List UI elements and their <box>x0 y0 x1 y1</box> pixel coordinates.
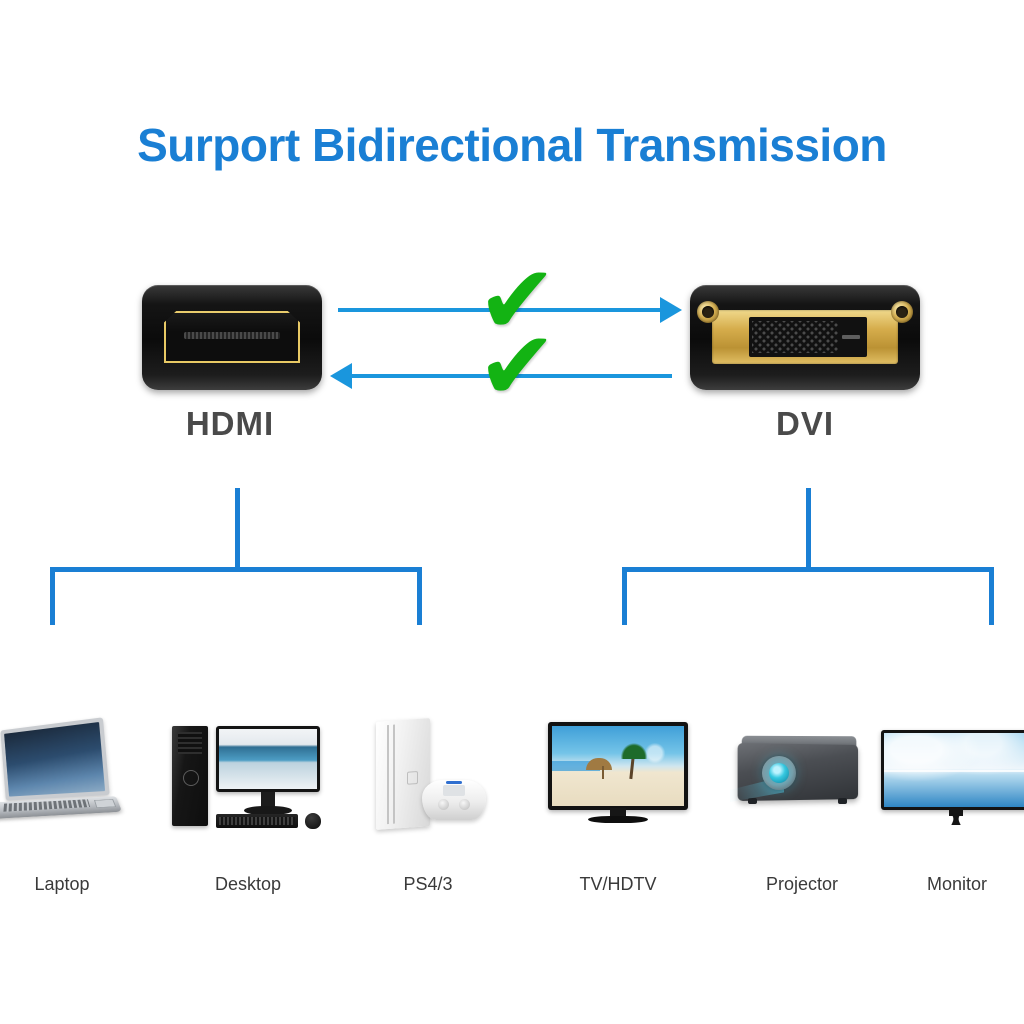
hdmi-label: HDMI <box>130 405 330 443</box>
hdmi-pin-strip <box>184 332 280 339</box>
desktop-tower-vents <box>178 732 202 754</box>
arrow-right-head-icon <box>660 297 682 323</box>
projector-foot-right <box>838 798 847 804</box>
device-caption-ps4: PS4/3 <box>348 874 508 895</box>
device-monitor: Monitor <box>877 710 1024 840</box>
laptop-trackpad <box>94 799 116 808</box>
monitor-screen-horizon <box>884 770 1024 772</box>
desktop-mouse <box>305 813 321 829</box>
tv-stand-base <box>588 816 648 823</box>
ps4-lightbar <box>446 781 462 784</box>
desktop-computer-icon <box>168 710 328 840</box>
desktop-screen <box>219 729 317 789</box>
ps4-stick-right <box>459 799 470 810</box>
dvi-screw-left-icon <box>697 301 719 323</box>
device-caption-desktop: Desktop <box>168 874 328 895</box>
monitor-bezel <box>881 730 1024 810</box>
green-check-icon-bottom: ✔ <box>477 318 557 414</box>
dvi-tree-stem <box>806 488 811 572</box>
game-console-icon <box>348 710 508 840</box>
desktop-keyboard <box>216 814 298 828</box>
page-title: Surport Bidirectional Transmission <box>0 118 1024 172</box>
dvi-tree-bar <box>622 567 994 572</box>
device-projector: Projector <box>722 710 882 840</box>
tv-screen-palm-leaves <box>617 739 651 759</box>
monitor-stand-legs <box>921 813 991 825</box>
tv-screen-umbrella-pole <box>602 766 604 779</box>
projector-icon <box>722 710 882 840</box>
television-icon <box>538 710 698 840</box>
dvi-tree-drop-left <box>622 567 627 625</box>
dvi-blade-slot <box>842 335 860 339</box>
hdmi-tree-drop-left <box>50 567 55 625</box>
device-desktop: Desktop <box>168 710 328 840</box>
projector-lens <box>769 763 789 783</box>
tv-screen-umbrella <box>586 758 612 770</box>
dvi-port-icon <box>712 310 898 364</box>
laptop-lid <box>0 717 109 800</box>
device-row: Laptop Desktop <box>0 710 1024 910</box>
device-caption-laptop: Laptop <box>0 874 142 895</box>
dvi-pin-grid <box>752 321 838 353</box>
ps4-console-body <box>376 718 430 830</box>
ps4-touchpad <box>443 785 465 796</box>
ps4-controller <box>422 780 486 820</box>
device-caption-projector: Projector <box>722 874 882 895</box>
dvi-tree-drop-right <box>989 567 994 625</box>
laptop-keyboard <box>3 799 90 811</box>
desktop-tower <box>172 726 208 826</box>
hdmi-tree-drop-right <box>417 567 422 625</box>
arrow-left-head-icon <box>330 363 352 389</box>
dvi-pin-block <box>749 317 867 357</box>
laptop-display <box>4 722 105 797</box>
ps4-stick-left <box>438 799 449 810</box>
tv-bezel <box>548 722 688 810</box>
ps4-vent-slit-b <box>393 725 395 824</box>
monitor-icon <box>877 710 1024 840</box>
device-caption-monitor: Monitor <box>877 874 1024 895</box>
laptop-icon <box>0 710 142 840</box>
desktop-brand-logo <box>183 770 199 786</box>
desktop-monitor <box>216 726 320 792</box>
infographic-page: Surport Bidirectional Transmission HDMI … <box>0 0 1024 1024</box>
hdmi-tree-stem <box>235 488 240 572</box>
ps4-vent-slit-a <box>387 725 389 824</box>
device-laptop: Laptop <box>0 710 142 840</box>
projector-foot-left <box>748 798 757 804</box>
dvi-screw-right-icon <box>891 301 913 323</box>
device-tv: TV/HDTV <box>538 710 698 840</box>
device-caption-tv: TV/HDTV <box>538 874 698 895</box>
dvi-label: DVI <box>705 405 905 443</box>
dvi-connector-image <box>690 285 920 390</box>
ps4-logo <box>407 771 418 785</box>
hdmi-tree-bar <box>50 567 422 572</box>
tv-screen <box>552 726 684 806</box>
desktop-keyboard-keys <box>219 817 295 825</box>
hdmi-connector-image <box>142 285 322 390</box>
device-ps4: PS4/3 <box>348 710 508 840</box>
